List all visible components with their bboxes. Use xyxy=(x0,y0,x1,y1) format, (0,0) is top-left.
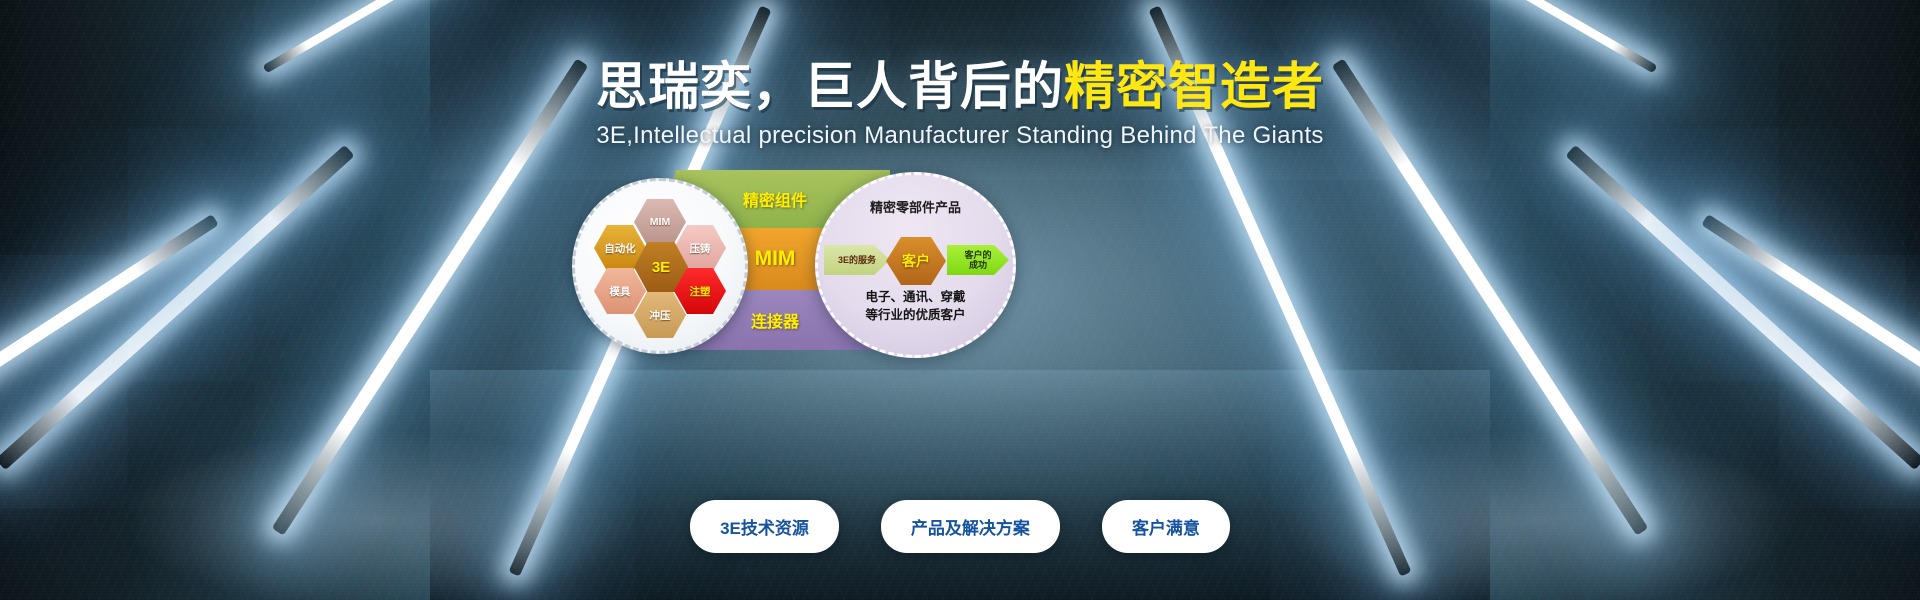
hex-mim: MIM xyxy=(634,199,686,245)
hex-label: 模具 xyxy=(610,284,631,299)
client-caption-line1: 电子、通讯、穿戴 xyxy=(824,288,1007,306)
hex-label: MIM xyxy=(650,216,670,228)
business-model-diagram: 精密组件 MIM 连接器 MIM 自动化 压铸 3E 模具 xyxy=(560,170,1000,350)
success-arrow-label-line2: 成功 xyxy=(964,260,991,270)
hex-label: 3E xyxy=(652,259,670,276)
client-circle-caption: 电子、通讯、穿戴 等行业的优质客户 xyxy=(824,288,1007,324)
button-tech-resources[interactable]: 3E技术资源 xyxy=(690,500,839,553)
hex-label: 注塑 xyxy=(690,284,711,299)
client-circle-title: 精密零部件产品 xyxy=(818,197,1013,216)
client-caption-line2: 等行业的优质客户 xyxy=(824,306,1007,324)
band-label: MIM xyxy=(755,247,796,271)
cta-button-row: 3E技术资源 产品及解决方案 客户满意 xyxy=(0,500,1920,553)
hex-stamping: 冲压 xyxy=(634,292,686,338)
service-arrow-label: 3E的服务 xyxy=(838,255,876,265)
page-title: 思瑞奕，巨人背后的精密智造者 xyxy=(0,60,1920,114)
success-arrow-label-line1: 客户的 xyxy=(964,250,991,260)
hex-label: 压铸 xyxy=(690,241,711,256)
service-arrow-chip: 3E的服务 xyxy=(824,245,890,275)
capability-circle: MIM 自动化 压铸 3E 模具 注塑 冲压 xyxy=(572,178,748,354)
client-circle: 精密零部件产品 3E的服务 客户 客户的 成功 电子、通讯、穿戴 等行业的优质客… xyxy=(815,172,1016,358)
hero-banner: 思瑞奕，巨人背后的精密智造者 3E,Intellectual precision… xyxy=(0,0,1920,600)
band-label: 连接器 xyxy=(751,308,799,332)
band-label: 精密组件 xyxy=(743,187,807,211)
customer-hexagon-label: 客户 xyxy=(902,251,930,271)
hex-label: 自动化 xyxy=(604,241,636,256)
success-arrow-chip: 客户的 成功 xyxy=(947,245,1009,275)
headline-block: 思瑞奕，巨人背后的精密智造者 3E,Intellectual precision… xyxy=(0,60,1920,150)
hex-label: 冲压 xyxy=(650,308,671,323)
page-title-main: 思瑞奕，巨人背后的 xyxy=(596,58,1064,115)
hex-mould: 模具 xyxy=(594,268,646,314)
customer-hexagon: 客户 xyxy=(886,237,946,285)
page-subtitle: 3E,Intellectual precision Manufacturer S… xyxy=(0,122,1920,150)
button-customer-satisfaction[interactable]: 客户满意 xyxy=(1102,500,1230,553)
button-products-solutions[interactable]: 产品及解决方案 xyxy=(881,500,1060,553)
page-title-accent: 精密智造者 xyxy=(1064,58,1324,115)
